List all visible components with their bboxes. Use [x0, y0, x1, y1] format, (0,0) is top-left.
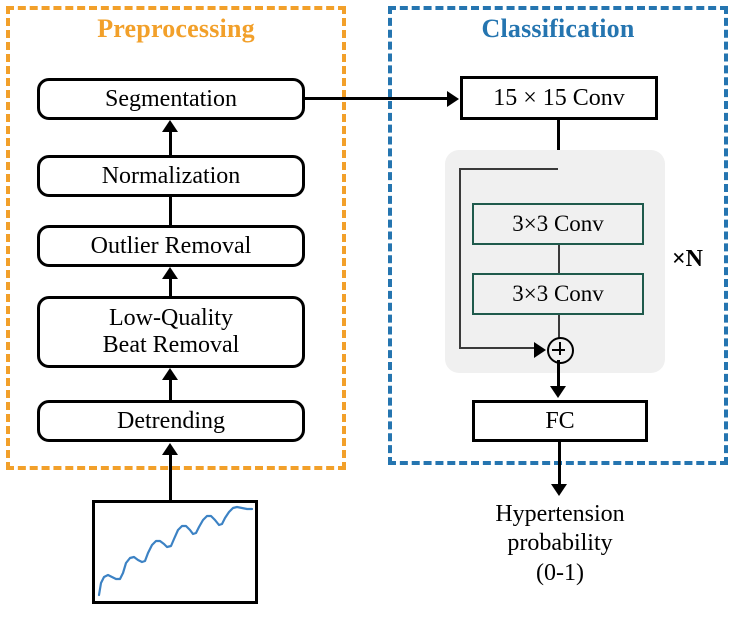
connector-conv2-to-add — [558, 315, 560, 338]
input-signal-plot — [92, 500, 258, 604]
step-label-low-quality-line2: Beat Removal — [103, 332, 240, 359]
step-box-normalization[interactable]: Normalization — [37, 155, 305, 197]
conv-box-residual-2[interactable]: 3×3 Conv — [472, 273, 644, 315]
output-caption-line3: (0-1) — [428, 559, 692, 588]
connector-signal-to-detrending — [169, 455, 172, 500]
connector-lowquality-to-outlier — [169, 279, 172, 297]
arrowhead-segmentation-to-stem-conv — [447, 91, 459, 107]
step-box-segmentation[interactable]: Segmentation — [37, 78, 305, 120]
step-box-low-quality-beat-removal[interactable]: Low-Quality Beat Removal — [37, 296, 305, 368]
skip-connection-top — [459, 168, 558, 170]
step-label-segmentation: Segmentation — [105, 86, 237, 113]
arrowhead-add-to-fc — [550, 386, 566, 398]
connector-normalization-to-segmentation — [169, 132, 172, 155]
panel-title-preprocessing: Preprocessing — [6, 14, 346, 44]
conv-label-stem: 15 × 15 Conv — [493, 85, 625, 112]
ppg-waveform-icon — [95, 503, 255, 601]
skip-connection-bottom — [459, 347, 537, 349]
step-label-normalization: Normalization — [102, 163, 241, 190]
connector-fc-to-output — [558, 442, 561, 486]
connector-detrending-to-lowquality — [169, 380, 172, 401]
skip-connection-left — [459, 168, 461, 349]
repeat-count-label: ×N — [672, 246, 703, 273]
step-label-detrending: Detrending — [117, 408, 225, 435]
arrowhead-detrending-to-lowquality — [162, 368, 178, 380]
output-caption-line2: probability — [428, 529, 692, 558]
conv-label-residual-2: 3×3 Conv — [512, 281, 604, 307]
arrowhead-fc-to-output — [551, 484, 567, 496]
conv-box-residual-1[interactable]: 3×3 Conv — [472, 203, 644, 245]
step-box-outlier-removal[interactable]: Outlier Removal — [37, 225, 305, 267]
fc-label: FC — [545, 408, 574, 435]
connector-add-to-fc — [557, 360, 560, 388]
step-label-low-quality-line1: Low-Quality — [109, 305, 233, 332]
arrowhead-lowquality-to-outlier — [162, 267, 178, 279]
arrowhead-skip-to-add — [534, 342, 546, 358]
output-caption-line1: Hypertension — [428, 500, 692, 529]
diagram-canvas: Preprocessing Classification Segmentatio… — [0, 0, 748, 618]
connector-segmentation-to-stem-conv — [305, 97, 448, 100]
fc-box[interactable]: FC — [472, 400, 648, 442]
connector-conv1-to-conv2 — [558, 245, 560, 273]
panel-title-classification: Classification — [388, 14, 728, 44]
arrowhead-signal-to-detrending — [162, 443, 178, 455]
step-box-detrending[interactable]: Detrending — [37, 400, 305, 442]
conv-box-stem[interactable]: 15 × 15 Conv — [460, 76, 658, 120]
step-label-outlier-removal: Outlier Removal — [91, 233, 252, 260]
arrowhead-normalization-to-segmentation — [162, 120, 178, 132]
connector-outlier-to-normalization — [169, 197, 172, 225]
output-caption: Hypertension probability (0-1) — [428, 500, 692, 588]
conv-label-residual-1: 3×3 Conv — [512, 211, 604, 237]
add-node-icon — [547, 337, 574, 364]
